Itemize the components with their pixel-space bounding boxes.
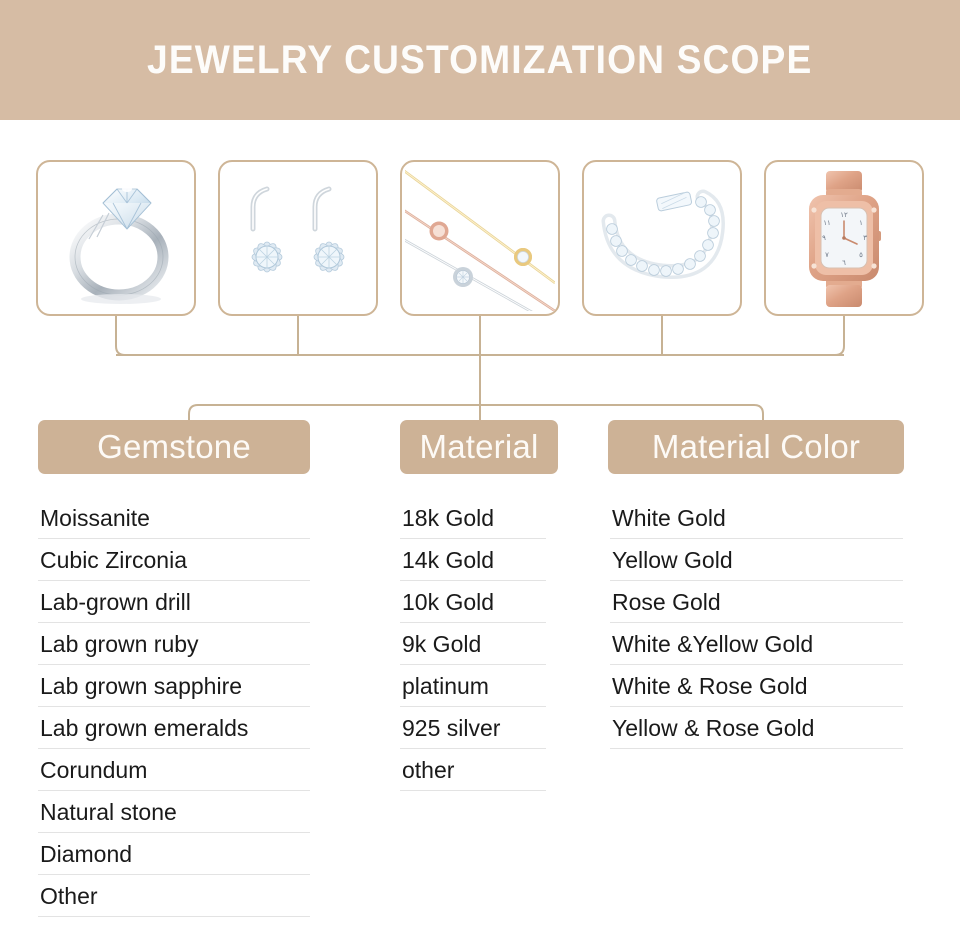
list-item[interactable]: White &Yellow Gold <box>610 623 903 665</box>
category-pill-material[interactable]: Material <box>400 420 558 474</box>
header-bar: JEWELRY CUSTOMIZATION SCOPE <box>0 0 960 120</box>
list-item[interactable]: Moissanite <box>38 497 310 539</box>
svg-text:١: ١ <box>859 220 863 227</box>
list-item[interactable]: Corundum <box>38 749 310 791</box>
ring-icon <box>41 165 191 311</box>
list-item[interactable]: Cubic Zirconia <box>38 539 310 581</box>
page-title: JEWELRY CUSTOMIZATION SCOPE <box>147 38 812 83</box>
list-item[interactable]: White Gold <box>610 497 903 539</box>
category-title-material: Material <box>420 428 539 466</box>
list-item[interactable]: Lab grown emeralds <box>38 707 310 749</box>
necklace-icon <box>405 165 555 311</box>
category-pill-material-color[interactable]: Material Color <box>608 420 904 474</box>
svg-text:١٢: ١٢ <box>840 212 848 219</box>
product-box-necklaces[interactable] <box>400 160 560 316</box>
svg-text:٧: ٧ <box>825 252 829 259</box>
product-box-watch[interactable]: ١٢ ١ ٣ ٥ ٦ ٧ ٩ ١١ <box>764 160 924 316</box>
product-image-row: ١٢ ١ ٣ ٥ ٦ ٧ ٩ ١١ <box>36 160 924 316</box>
list-item[interactable]: Diamond <box>38 833 310 875</box>
list-item[interactable]: Rose Gold <box>610 581 903 623</box>
list-item[interactable]: platinum <box>400 665 546 707</box>
list-item[interactable]: Lab-grown drill <box>38 581 310 623</box>
list-item[interactable]: Yellow Gold <box>610 539 903 581</box>
list-item[interactable]: Lab grown ruby <box>38 623 310 665</box>
category-pill-gemstone[interactable]: Gemstone <box>38 420 310 474</box>
list-item[interactable]: Other <box>38 875 310 917</box>
list-item[interactable]: Lab grown sapphire <box>38 665 310 707</box>
connector-tree <box>0 310 960 430</box>
jewelry-customization-scope-page: JEWELRY CUSTOMIZATION SCOPE <box>0 0 960 944</box>
list-item[interactable]: 925 silver <box>400 707 546 749</box>
option-list-material-color: White Gold Yellow Gold Rose Gold White &… <box>610 497 903 749</box>
svg-text:٩: ٩ <box>822 235 826 242</box>
category-title-material-color: Material Color <box>652 428 860 466</box>
list-item[interactable]: 10k Gold <box>400 581 546 623</box>
svg-text:١١: ١١ <box>823 220 831 227</box>
option-list-gemstone: Moissanite Cubic Zirconia Lab-grown dril… <box>38 497 310 917</box>
option-list-material: 18k Gold 14k Gold 10k Gold 9k Gold plati… <box>400 497 546 791</box>
list-item[interactable]: 9k Gold <box>400 623 546 665</box>
product-box-bracelet[interactable] <box>582 160 742 316</box>
bracelet-icon <box>587 165 737 311</box>
product-box-ring[interactable] <box>36 160 196 316</box>
list-item[interactable]: 18k Gold <box>400 497 546 539</box>
product-box-earrings[interactable] <box>218 160 378 316</box>
list-item[interactable]: Natural stone <box>38 791 310 833</box>
list-item[interactable]: Yellow & Rose Gold <box>610 707 903 749</box>
list-item[interactable]: White & Rose Gold <box>610 665 903 707</box>
earrings-icon <box>223 165 373 311</box>
svg-text:٥: ٥ <box>859 252 863 259</box>
svg-text:٣: ٣ <box>863 235 867 242</box>
list-item[interactable]: other <box>400 749 546 791</box>
category-title-gemstone: Gemstone <box>97 428 251 466</box>
svg-text:٦: ٦ <box>842 260 846 267</box>
list-item[interactable]: 14k Gold <box>400 539 546 581</box>
watch-icon: ١٢ ١ ٣ ٥ ٦ ٧ ٩ ١١ <box>769 165 919 311</box>
